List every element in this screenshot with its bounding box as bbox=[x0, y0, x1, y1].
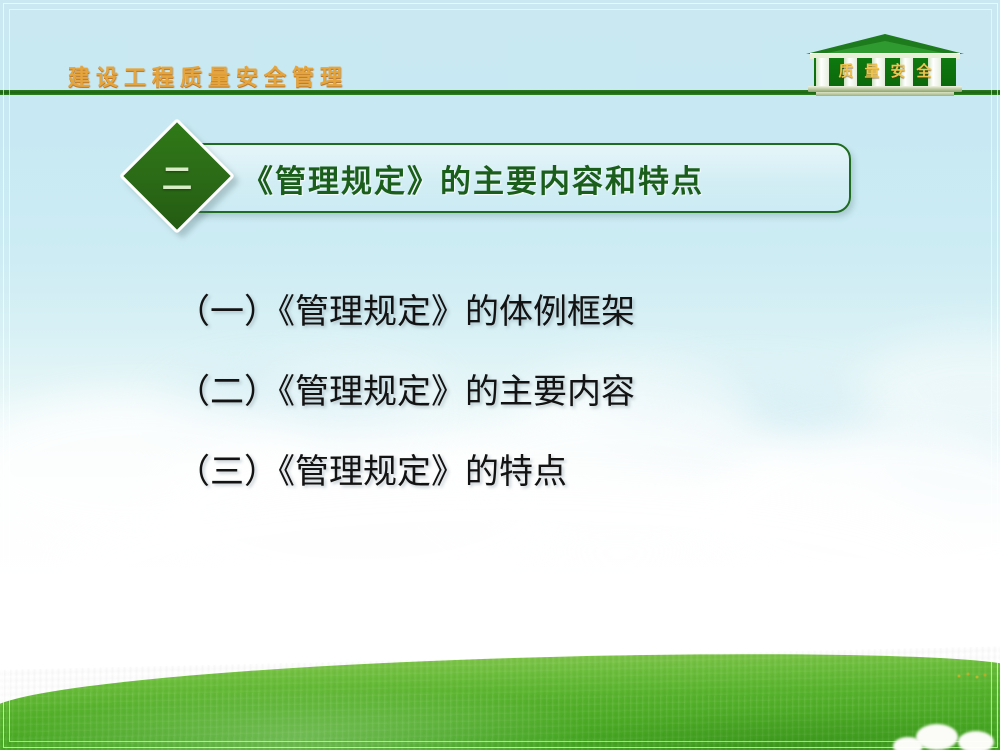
grass-field bbox=[0, 646, 1000, 750]
flowers-decoration bbox=[955, 671, 989, 683]
temple-base-lower-icon bbox=[816, 92, 954, 96]
logo-label: 质量安全 bbox=[806, 60, 964, 81]
sheep-decoration bbox=[893, 737, 923, 750]
agenda-list: （一）《管理规定》的体例框架 （二）《管理规定》的主要内容 （三）《管理规定》的… bbox=[176, 296, 936, 536]
quality-safety-temple-logo: 质量安全 bbox=[806, 34, 964, 96]
grass-hill bbox=[0, 640, 1000, 750]
header-title: 建设工程质量安全管理 bbox=[68, 60, 348, 92]
presentation-slide: 建设工程质量安全管理 质量安全 二 《管理规定》的主要内容和特点 （一）《管理规… bbox=[0, 0, 1000, 750]
agenda-item-1: （一）《管理规定》的体例框架 bbox=[176, 296, 936, 330]
section-number-label: 二 bbox=[136, 135, 218, 217]
sheep-decoration bbox=[958, 731, 994, 750]
section-title: 《管理规定》的主要内容和特点 bbox=[242, 143, 842, 213]
section-banner: 二 《管理规定》的主要内容和特点 bbox=[130, 128, 820, 240]
agenda-item-2: （二）《管理规定》的主要内容 bbox=[176, 376, 936, 410]
agenda-item-3: （三）《管理规定》的特点 bbox=[176, 456, 936, 490]
grass-shading bbox=[0, 646, 1000, 750]
